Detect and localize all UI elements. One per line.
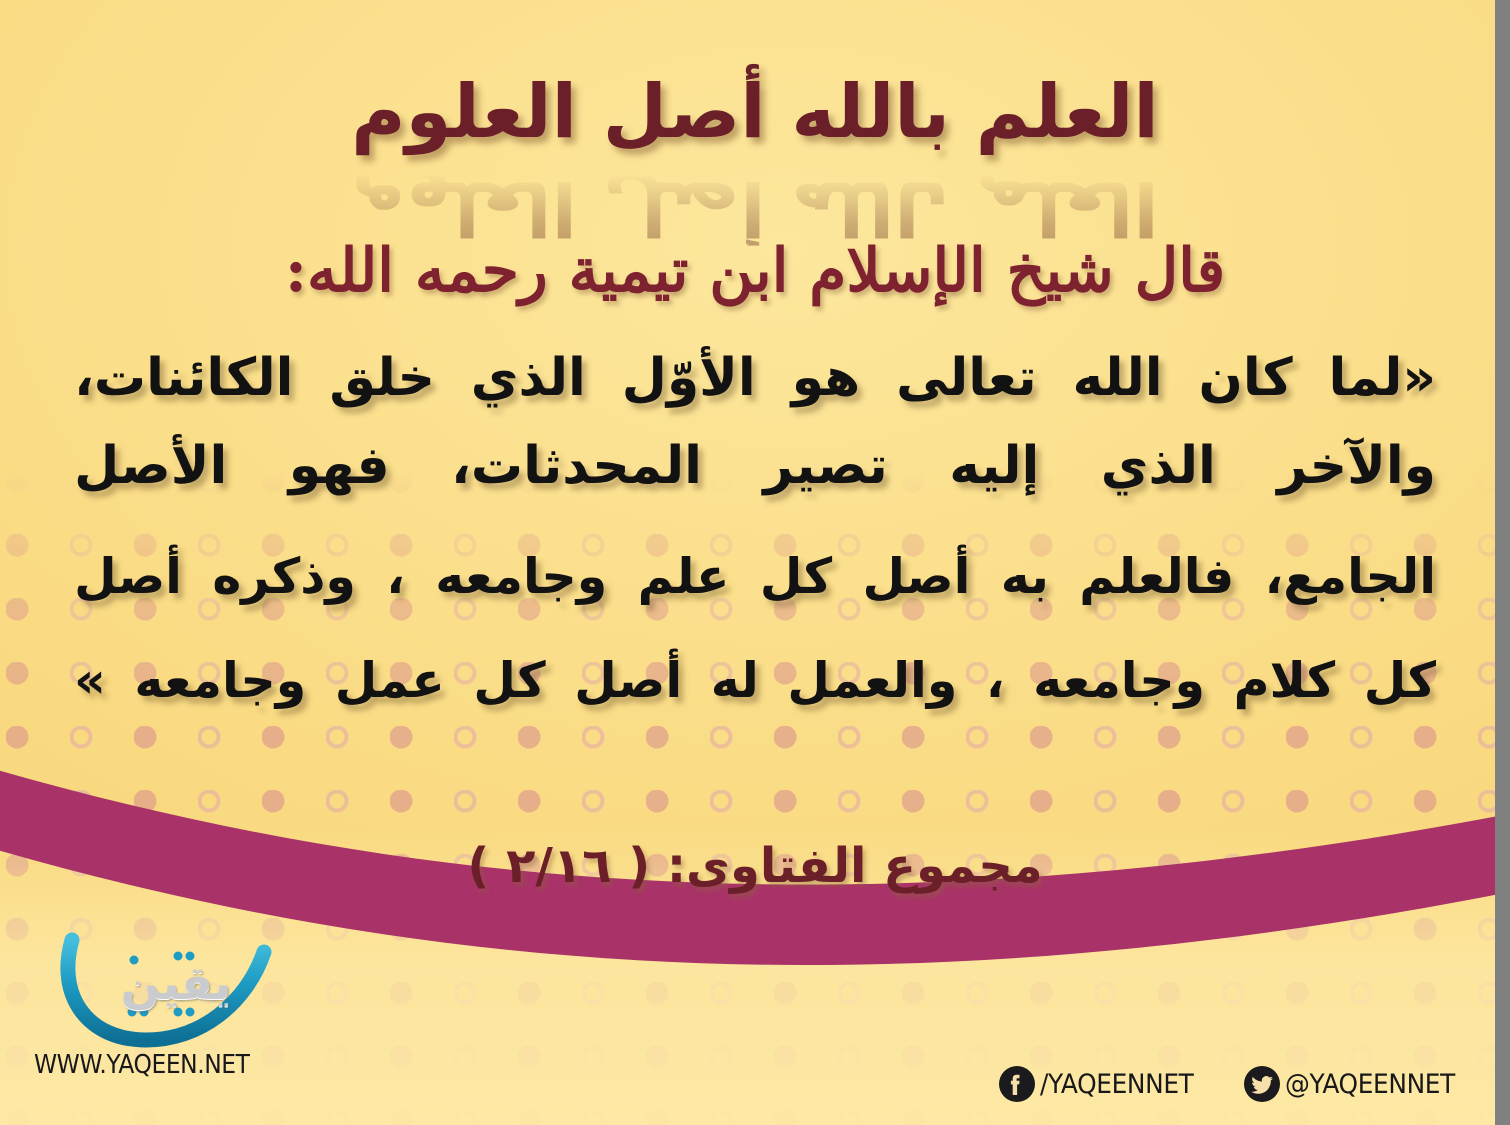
quote-word: له [711, 656, 759, 756]
quote-word: الكائنات، [74, 352, 293, 440]
quote-word: أصل [74, 552, 182, 656]
quote-word: كل [473, 656, 545, 756]
social-item-twitter[interactable]: @YAQEENNET [1243, 1065, 1470, 1103]
quote-word: كان [1198, 352, 1292, 440]
quote-line-3: الجامع،فالعلمبهأصلكلعلموجامعه،وذكرهأصل [74, 552, 1436, 656]
quote-word: به [1001, 552, 1049, 656]
quote-word: المحدثات، [451, 440, 702, 552]
quote-word: إليه [949, 440, 1039, 552]
quote-word: فهو [289, 440, 390, 552]
quote-line-2: والآخرالذيإليهتصيرالمحدثات،فهوالأصل [74, 440, 1436, 552]
quote-word: الذي [471, 352, 586, 440]
twitter-icon [1243, 1065, 1281, 1103]
quote-word: والعمل [787, 656, 957, 756]
quote-word: الله [1072, 352, 1162, 440]
quote-word: الأصل [74, 440, 227, 552]
quote-word: «لما [1328, 352, 1436, 440]
logo-wordmark: يقين [50, 956, 302, 1010]
quote-word: وجامعه [134, 656, 306, 756]
quote-word: ، [986, 656, 1005, 756]
quote-word: علم [638, 552, 730, 656]
quote-word: خلق [329, 352, 435, 440]
quote-word: فالعلم [1079, 552, 1234, 656]
quote-word: الجامع، [1265, 552, 1436, 656]
quote-word: الذي [1101, 440, 1216, 552]
quote-body: «لماكاناللهتعالىهوالأوّلالذيخلقالكائنات،… [74, 352, 1436, 756]
quote-word: أصل [574, 656, 682, 756]
quote-word: كل [1364, 656, 1436, 756]
quote-word: الأوّل [622, 352, 756, 440]
quote-line-4: كلكلاموجامعه،والعمللهأصلكلعملوجامعه» [74, 656, 1436, 756]
quote-word: تعالى [896, 352, 1037, 440]
quote-word: كلام [1234, 656, 1336, 756]
quote-word: أصل [863, 552, 971, 656]
facebook-handle: /YAQEENNET [1040, 1069, 1193, 1100]
facebook-icon [998, 1065, 1036, 1103]
source-citation: مجموع الفتاوى: ( ٢/١٦ ) [0, 838, 1510, 894]
quote-word: » [74, 656, 106, 756]
quote-word: تصير [763, 440, 887, 552]
right-edge-gutter [1495, 0, 1510, 1125]
twitter-handle: @YAQEENNET [1285, 1069, 1455, 1100]
headline-area: العلم بالله أصل العلوم [0, 74, 1510, 254]
social-item-facebook[interactable]: /YAQEENNET [998, 1065, 1207, 1103]
brand-logo[interactable]: يقين WWW.YAQEEN.NET [34, 930, 302, 1092]
quote-word: وجامعه [1033, 656, 1205, 756]
logo-mark: يقين [50, 930, 302, 1048]
brand-url: WWW.YAQEEN.NET [34, 1050, 275, 1080]
quote-word: وجامعه [435, 552, 607, 656]
quote-line-1: «لماكاناللهتعالىهوالأوّلالذيخلقالكائنات، [74, 352, 1436, 440]
quote-word: ، [386, 552, 405, 656]
quote-card: العلم بالله أصل العلوم العلم بالله أصل ا… [0, 0, 1510, 1125]
headline-title: العلم بالله أصل العلوم [0, 74, 1510, 152]
quote-word: والآخر [1277, 440, 1436, 552]
quote-word: عمل [335, 656, 445, 756]
quote-word: وذكره [212, 552, 356, 656]
quote-word: هو [792, 352, 861, 440]
quote-word: كل [760, 552, 832, 656]
attribution-line: قال شيخ الإسلام ابن تيمية رحمه الله: [0, 236, 1510, 306]
social-strip: /YAQEENNET @YAQEENNET [998, 1065, 1470, 1103]
